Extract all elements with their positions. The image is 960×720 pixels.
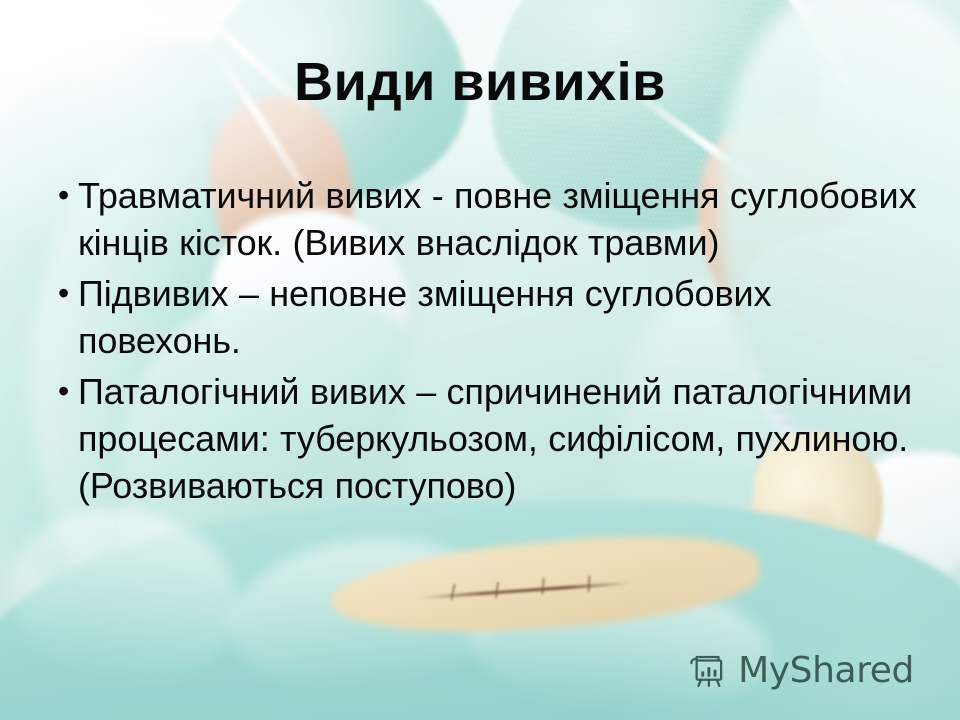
- bullet-marker-icon: •: [44, 368, 78, 415]
- bullet-marker-icon: •: [44, 172, 78, 219]
- bullet-text-1: Травматичний вивих - повне зміщення сугл…: [78, 172, 924, 266]
- bullet-text-3: Паталогічний вивих – спричинений паталог…: [78, 368, 924, 509]
- bullet-item-3: • Паталогічний вивих – спричинений патал…: [44, 368, 924, 509]
- bullet-list: • Травматичний вивих - повне зміщення су…: [44, 172, 924, 513]
- slide-title: Види вивихів: [0, 54, 960, 111]
- bullet-item-2: • Підвивих – неповне зміщення суглобових…: [44, 270, 924, 364]
- myshared-watermark-label: MyShared: [738, 653, 914, 689]
- bullet-item-1: • Травматичний вивих - повне зміщення су…: [44, 172, 924, 266]
- bullet-marker-icon: •: [44, 270, 78, 317]
- bullet-text-2: Підвивих – неповне зміщення суглобових п…: [78, 270, 924, 364]
- presentation-board-icon: [687, 650, 729, 692]
- slide-content: Види вивихів • Травматичний вивих - повн…: [0, 0, 960, 720]
- presentation-slide: Види вивихів • Травматичний вивих - повн…: [0, 0, 960, 720]
- myshared-watermark[interactable]: MyShared: [687, 650, 914, 692]
